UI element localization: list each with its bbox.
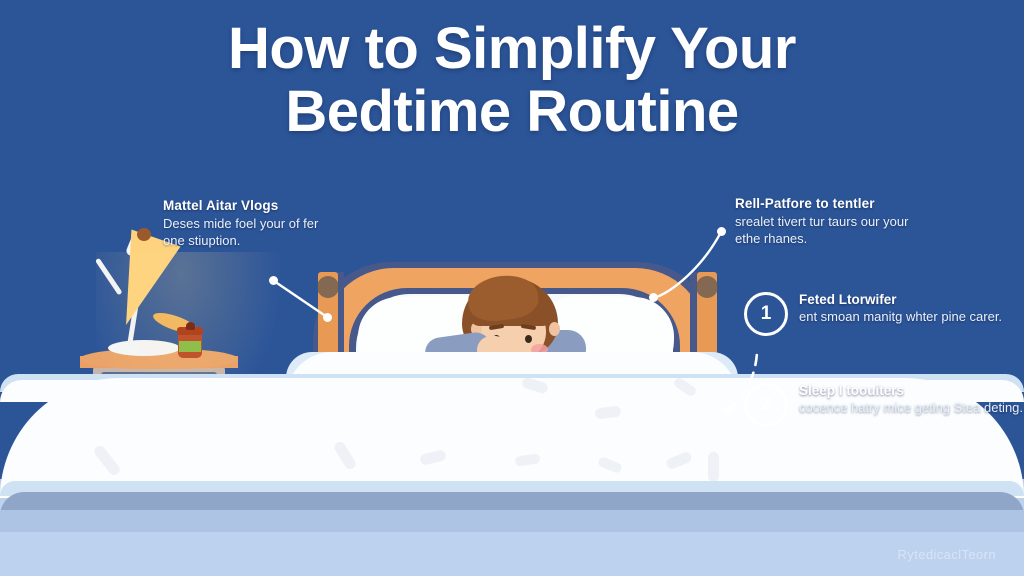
- annotation-right-top: Rell-Patfore to tentler srealet tivert t…: [735, 196, 925, 247]
- bed-base-lower: [0, 510, 1024, 532]
- title-line-1: How to Simplify Your: [228, 16, 796, 81]
- bedpost-finial-right: [696, 276, 718, 298]
- bedpost-finial-left: [317, 276, 339, 298]
- number-badge-1: 1: [744, 292, 788, 336]
- annotation-right-top-body: srealet tivert tur taurs our your ethe r…: [735, 214, 925, 247]
- connector-dot-dashed-start: [724, 406, 733, 415]
- numbered-item-2-text: Sleep I toouiters cocence hatry mice get…: [799, 383, 1023, 416]
- jar-label: [179, 341, 201, 352]
- connector-dot-right-end: [717, 227, 726, 236]
- numbered-item-1-text: Feted Ltorwifer ent smoan manitg whter p…: [799, 292, 1002, 325]
- connector-dot-right-start: [649, 293, 658, 302]
- numbered-item-1-body: ent smoan manitg whter pine carer.: [799, 309, 1002, 325]
- lamp-base-plate: [108, 340, 180, 356]
- duvet-motif: [708, 452, 719, 482]
- infographic-canvas: How to Simplify Your Bedtime Routine: [0, 0, 1024, 576]
- number-badge-2: 2: [744, 383, 788, 427]
- numbered-item-2: 2 Sleep I toouiters cocence hatry mice g…: [744, 383, 1023, 427]
- annotation-left-body: Deses mide foel your of fer one stiuptio…: [163, 216, 328, 249]
- lamp-top-cap: [137, 228, 151, 241]
- jar-stem: [186, 322, 195, 330]
- numbered-item-1: 1 Feted Ltorwifer ent smoan manitg whter…: [744, 292, 1002, 336]
- title-line-2: Bedtime Routine: [0, 81, 1024, 144]
- annotation-right-top-heading: Rell-Patfore to tentler: [735, 196, 925, 211]
- numbered-item-1-heading: Feted Ltorwifer: [799, 292, 1002, 307]
- numbered-item-2-body: cocence hatry mice geting Stea deting.: [799, 400, 1023, 416]
- annotation-left-heading: Mattel Aitar Vlogs: [163, 198, 328, 213]
- annotation-left: Mattel Aitar Vlogs Deses mide foel your …: [163, 198, 328, 249]
- connector-dot-left-start: [269, 276, 278, 285]
- connector-dot-left-end: [323, 313, 332, 322]
- numbered-item-2-heading: Sleep I toouiters: [799, 383, 1023, 398]
- child-ear-right: [549, 322, 560, 336]
- watermark: RytedicaclTeorn: [898, 547, 997, 562]
- child-eye-right: [525, 335, 532, 343]
- page-title: How to Simplify Your Bedtime Routine: [0, 18, 1024, 143]
